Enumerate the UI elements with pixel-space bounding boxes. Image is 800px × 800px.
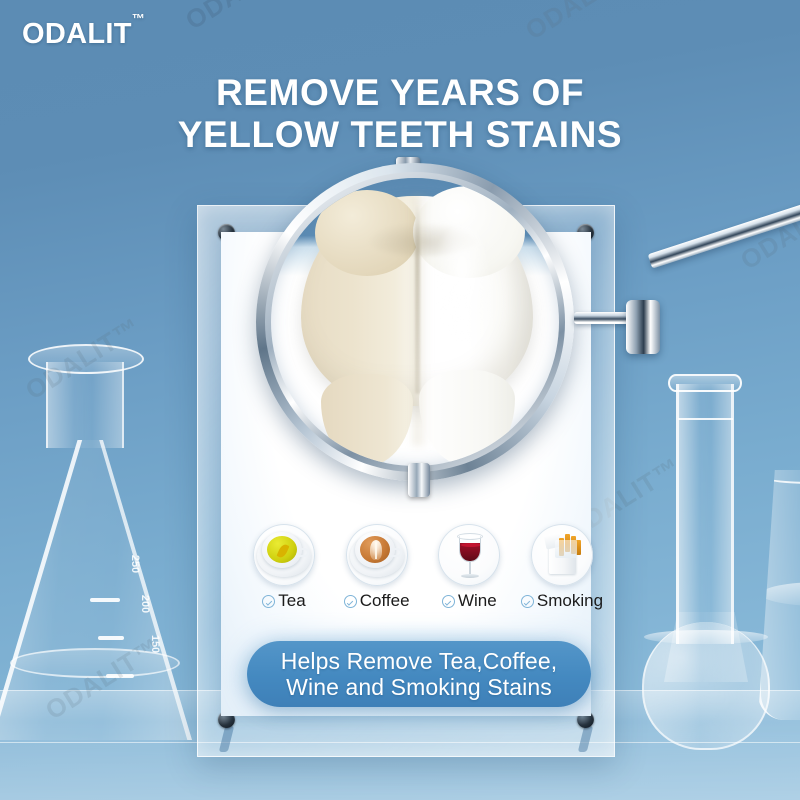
watermark: ODALIT™ (180, 0, 306, 36)
magnifier-lens (271, 178, 559, 466)
green-tea-cup-icon (253, 524, 315, 586)
list-item: Tea (240, 524, 328, 611)
stain-label-tea: Tea (262, 591, 305, 611)
watermark: ODALIT™ (520, 0, 646, 46)
volumetric-flask-icon (648, 372, 788, 792)
check-icon (262, 595, 275, 608)
cigarette-pack-icon (531, 524, 593, 586)
check-icon (521, 595, 534, 608)
petri-dish-icon (10, 648, 180, 678)
magnifier-hinge (626, 300, 660, 354)
magnifying-glass-icon (256, 163, 588, 511)
benefit-banner: Helps Remove Tea,Coffee, Wine and Smokin… (247, 641, 591, 707)
brand-logo: ODALIT™ (22, 18, 145, 51)
list-item: Coffee (333, 524, 421, 611)
magnifier-bottom-mount (408, 463, 430, 497)
stain-label-text: Wine (458, 591, 497, 611)
page-headline: REMOVE YEARS OF YELLOW TEETH STAINS (0, 72, 800, 156)
stain-source-list: Tea Coffee Wine (240, 524, 606, 624)
headline-line-1: REMOVE YEARS OF (0, 72, 800, 114)
brand-trademark-symbol: ™ (132, 11, 145, 26)
stain-label-text: Tea (278, 591, 305, 611)
stain-label-wine: Wine (442, 591, 497, 611)
stain-label-coffee: Coffee (344, 591, 410, 611)
molar-tooth-3d (301, 196, 533, 464)
list-item: Smoking (518, 524, 606, 611)
stain-label-smoking: Smoking (521, 591, 603, 611)
check-icon (442, 595, 455, 608)
check-icon (344, 595, 357, 608)
headline-line-2: YELLOW TEETH STAINS (0, 114, 800, 156)
frame-screw-shadow-bottom-right (578, 726, 593, 752)
flask-graduation-200: 200 (139, 595, 151, 613)
stain-label-text: Smoking (537, 591, 603, 611)
flask-graduation-150: 150 (149, 635, 161, 653)
flask-graduation-250: 250 (129, 555, 141, 573)
list-item: Wine (425, 524, 513, 611)
wine-glass-icon (438, 524, 500, 586)
frame-screw-shadow-bottom-left (219, 726, 234, 752)
coffee-cup-icon (346, 524, 408, 586)
benefit-banner-text: Helps Remove Tea,Coffee, Wine and Smokin… (281, 648, 557, 700)
brand-name: ODALIT (22, 18, 132, 50)
stain-label-text: Coffee (360, 591, 410, 611)
